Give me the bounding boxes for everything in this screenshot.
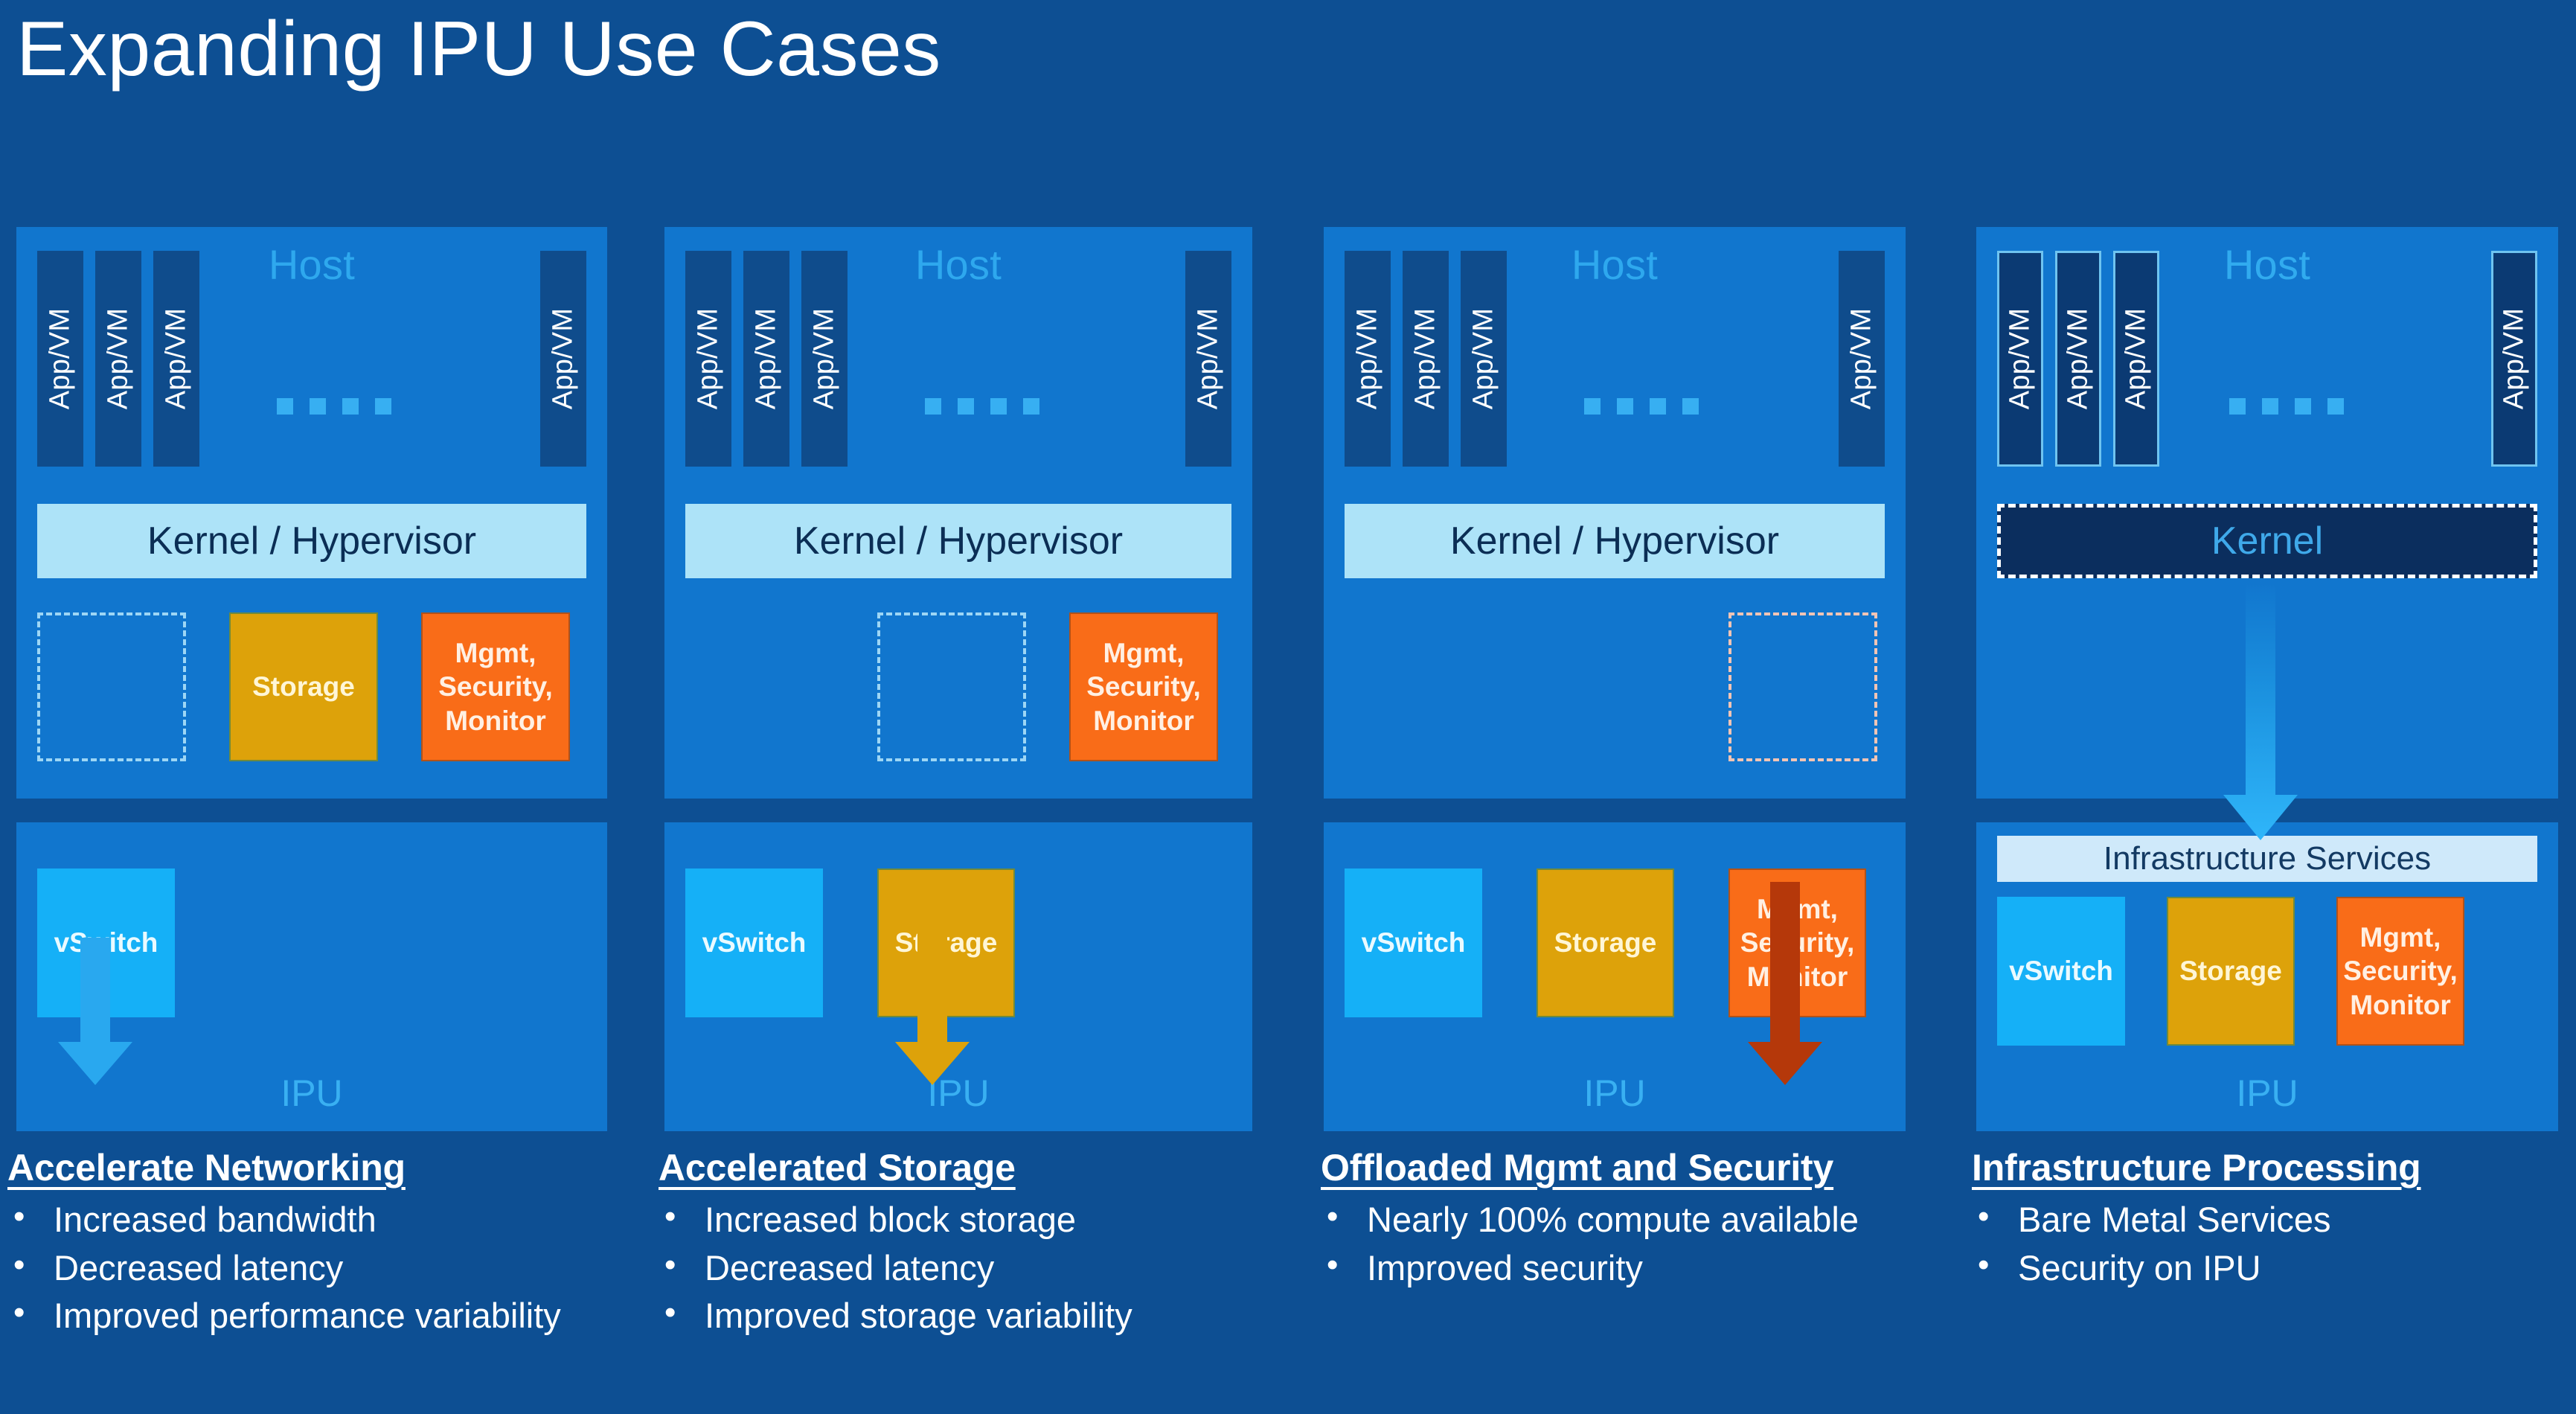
use-case-column-accelerate-networking: Host App/VM App/VM App/VM App/VM Kernel … bbox=[16, 227, 607, 799]
app-vm-label: App/VM bbox=[751, 308, 783, 409]
ipu-panel: vSwitch Storage Mgmt, Security, Monitor … bbox=[1324, 822, 1906, 1131]
ipu-storage-box: Storage bbox=[877, 868, 1015, 1017]
ipu-vswitch-box: vSwitch bbox=[1345, 868, 1482, 1017]
vm-row: App/VM App/VM App/VM App/VM bbox=[37, 251, 586, 467]
caption-bullet: Decreased latency bbox=[659, 1245, 1313, 1292]
kernel-hypervisor-bar: Kernel / Hypervisor bbox=[37, 504, 586, 578]
ipu-label: IPU bbox=[16, 1072, 607, 1115]
app-vm-label: App/VM bbox=[1410, 308, 1442, 409]
app-vm-label: App/VM bbox=[2005, 308, 2037, 409]
caption-bullet-list: Increased bandwidth Decreased latency Im… bbox=[7, 1197, 647, 1340]
app-vm-box: App/VM bbox=[743, 251, 789, 467]
ellipsis-dots-icon bbox=[925, 398, 1039, 415]
ipu-label: IPU bbox=[1324, 1072, 1906, 1115]
app-vm-label: App/VM bbox=[2063, 308, 2095, 409]
page-title: Expanding IPU Use Cases bbox=[16, 6, 941, 92]
app-vm-label: App/VM bbox=[548, 308, 580, 409]
caption-bullet: Improved performance variability bbox=[7, 1293, 647, 1340]
host-panel: Host App/VM App/VM App/VM App/VM Kernel … bbox=[16, 227, 607, 799]
ellipsis-dots-icon bbox=[277, 398, 391, 415]
app-vm-label: App/VM bbox=[1846, 308, 1878, 409]
host-panel: Host App/VM App/VM App/VM App/VM Kernel … bbox=[664, 227, 1252, 799]
use-case-column-offloaded-mgmt-security: Host App/VM App/VM App/VM App/VM Kernel … bbox=[1324, 227, 1906, 799]
app-vm-box: App/VM bbox=[1185, 251, 1231, 467]
app-vm-box: App/VM bbox=[1997, 251, 2043, 467]
caption-bullet: Bare Metal Services bbox=[1972, 1197, 2567, 1244]
ipu-mgmt-security-monitor-box: Mgmt, Security, Monitor bbox=[2336, 897, 2464, 1046]
caption-accelerate-networking: Accelerate Networking Increased bandwidt… bbox=[7, 1146, 647, 1341]
kernel-bar: Kernel bbox=[1997, 504, 2537, 578]
host-service-row bbox=[1345, 612, 1885, 773]
use-case-column-accelerated-storage: Host App/VM App/VM App/VM App/VM Kernel … bbox=[664, 227, 1252, 799]
caption-accelerated-storage: Accelerated Storage Increased block stor… bbox=[659, 1146, 1313, 1341]
caption-bullet-list: Nearly 100% compute available Improved s… bbox=[1321, 1197, 1976, 1291]
ipu-label: IPU bbox=[1976, 1072, 2558, 1115]
app-vm-box: App/VM bbox=[95, 251, 141, 467]
caption-bullet: Improved security bbox=[1321, 1245, 1976, 1292]
app-vm-label: App/VM bbox=[1193, 308, 1225, 409]
app-vm-label: App/VM bbox=[2121, 308, 2153, 409]
app-vm-label: App/VM bbox=[2499, 308, 2531, 409]
app-vm-box: App/VM bbox=[540, 251, 586, 467]
app-vm-box: App/VM bbox=[685, 251, 731, 467]
offloaded-slot-placeholder bbox=[877, 612, 1026, 761]
ipu-storage-box: Storage bbox=[1537, 868, 1674, 1017]
app-vm-label: App/VM bbox=[161, 308, 193, 409]
use-case-column-infrastructure-processing: Host App/VM App/VM App/VM App/VM Kernel … bbox=[1976, 227, 2558, 799]
app-vm-box: App/VM bbox=[1461, 251, 1507, 467]
host-mgmt-security-monitor-box: Mgmt, Security, Monitor bbox=[1069, 612, 1218, 761]
caption-heading: Infrastructure Processing bbox=[1972, 1146, 2567, 1189]
caption-heading: Accelerate Networking bbox=[7, 1146, 647, 1189]
host-panel: Host App/VM App/VM App/VM App/VM Kernel … bbox=[1324, 227, 1906, 799]
caption-bullet-list: Bare Metal Services Security on IPU bbox=[1972, 1197, 2567, 1291]
ipu-mgmt-security-monitor-box: Mgmt, Security, Monitor bbox=[1728, 868, 1866, 1017]
app-vm-label: App/VM bbox=[45, 308, 77, 409]
host-storage-box: Storage bbox=[229, 612, 378, 761]
caption-heading: Offloaded Mgmt and Security bbox=[1321, 1146, 1976, 1189]
app-vm-box: App/VM bbox=[2491, 251, 2537, 467]
caption-bullet: Security on IPU bbox=[1972, 1245, 2567, 1292]
vm-row: App/VM App/VM App/VM App/VM bbox=[685, 251, 1231, 467]
infrastructure-services-bar: Infrastructure Services bbox=[1997, 836, 2537, 882]
ipu-panel: vSwitch Storage IPU bbox=[664, 822, 1252, 1131]
caption-heading: Accelerated Storage bbox=[659, 1146, 1313, 1189]
app-vm-box: App/VM bbox=[1839, 251, 1885, 467]
offloaded-slot-placeholder bbox=[1728, 612, 1877, 761]
ipu-label: IPU bbox=[664, 1072, 1252, 1115]
vm-row: App/VM App/VM App/VM App/VM bbox=[1345, 251, 1885, 467]
caption-infrastructure-processing: Infrastructure Processing Bare Metal Ser… bbox=[1972, 1146, 2567, 1293]
app-vm-label: App/VM bbox=[693, 308, 725, 409]
caption-bullet: Improved storage variability bbox=[659, 1293, 1313, 1340]
app-vm-label: App/VM bbox=[103, 308, 135, 409]
ellipsis-dots-icon bbox=[2229, 398, 2344, 415]
ellipsis-dots-icon bbox=[1584, 398, 1699, 415]
offloaded-slot-placeholder bbox=[37, 612, 186, 761]
caption-bullet-list: Increased block storage Decreased latenc… bbox=[659, 1197, 1313, 1340]
ipu-vswitch-box: vSwitch bbox=[685, 868, 823, 1017]
app-vm-label: App/VM bbox=[1352, 308, 1384, 409]
ipu-vswitch-box: vSwitch bbox=[37, 868, 175, 1017]
app-vm-box: App/VM bbox=[1345, 251, 1391, 467]
kernel-hypervisor-bar: Kernel / Hypervisor bbox=[685, 504, 1231, 578]
app-vm-box: App/VM bbox=[801, 251, 848, 467]
host-mgmt-security-monitor-box: Mgmt, Security, Monitor bbox=[421, 612, 570, 761]
caption-bullet: Decreased latency bbox=[7, 1245, 647, 1292]
caption-bullet: Nearly 100% compute available bbox=[1321, 1197, 1976, 1244]
host-service-row: Mgmt, Security, Monitor bbox=[685, 612, 1231, 773]
ipu-panel: Infrastructure Services vSwitch Storage … bbox=[1976, 822, 2558, 1131]
ipu-panel: vSwitch IPU bbox=[16, 822, 607, 1131]
caption-offloaded-mgmt-security: Offloaded Mgmt and Security Nearly 100% … bbox=[1321, 1146, 1976, 1293]
app-vm-box: App/VM bbox=[2113, 251, 2159, 467]
app-vm-box: App/VM bbox=[37, 251, 83, 467]
app-vm-box: App/VM bbox=[153, 251, 199, 467]
app-vm-box: App/VM bbox=[1403, 251, 1449, 467]
app-vm-box: App/VM bbox=[2055, 251, 2101, 467]
app-vm-label: App/VM bbox=[1468, 308, 1500, 409]
kernel-hypervisor-bar: Kernel / Hypervisor bbox=[1345, 504, 1885, 578]
vm-row: App/VM App/VM App/VM App/VM bbox=[1997, 251, 2537, 467]
ipu-storage-box: Storage bbox=[2167, 897, 2295, 1046]
host-panel: Host App/VM App/VM App/VM App/VM Kernel bbox=[1976, 227, 2558, 799]
ipu-vswitch-box: vSwitch bbox=[1997, 897, 2125, 1046]
app-vm-label: App/VM bbox=[809, 308, 841, 409]
caption-bullet: Increased bandwidth bbox=[7, 1197, 647, 1244]
host-service-row: Storage Mgmt, Security, Monitor bbox=[37, 612, 586, 773]
caption-bullet: Increased block storage bbox=[659, 1197, 1313, 1244]
